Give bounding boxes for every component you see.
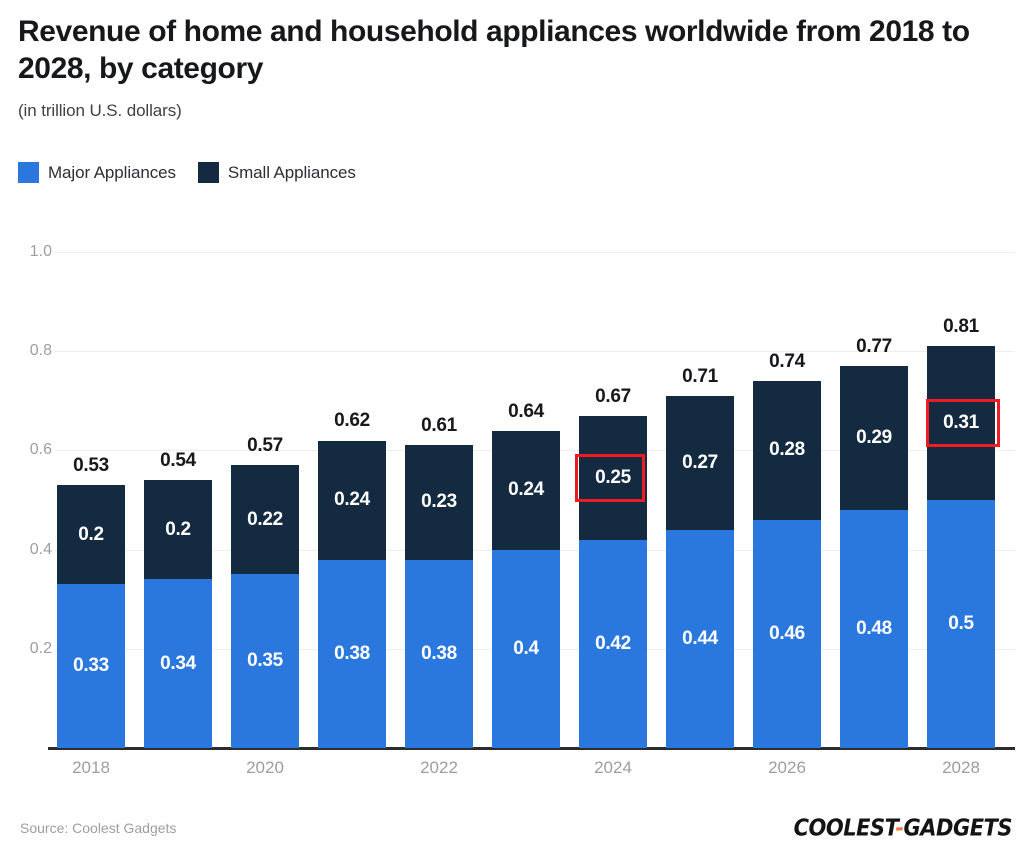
bar-total-label-2026: 0.74 (753, 351, 821, 373)
bar-2025[interactable]: 0.440.27 (666, 396, 734, 748)
gridline (55, 252, 1015, 253)
bar-segment-major-appliances[interactable]: 0.38 (405, 560, 473, 748)
bar-2020[interactable]: 0.350.22 (231, 465, 299, 748)
x-axis-tick-label-2018: 2018 (57, 758, 125, 778)
bar-segment-value-label: 0.38 (421, 643, 457, 665)
bar-segment-major-appliances[interactable]: 0.4 (492, 550, 560, 748)
bar-segment-value-label: 0.48 (856, 618, 892, 640)
bar-segment-value-label: 0.42 (595, 633, 631, 655)
bar-total-label-2019: 0.54 (144, 450, 212, 472)
bar-segment-value-label: 0.23 (421, 491, 457, 513)
bar-segment-value-label: 0.44 (682, 628, 718, 650)
bar-segment-small-appliances[interactable]: 0.22 (231, 465, 299, 574)
bar-total-label-2025: 0.71 (666, 366, 734, 388)
bar-2022[interactable]: 0.380.23 (405, 445, 473, 748)
bar-total-label-2028: 0.81 (927, 316, 995, 338)
y-axis-tick-label: 0.2 (12, 640, 52, 658)
bar-total-label-2027: 0.77 (840, 336, 908, 358)
bar-segment-value-label: 0.38 (334, 643, 370, 665)
bar-segment-small-appliances[interactable]: 0.24 (318, 441, 386, 560)
x-axis-tick-label-2024: 2024 (579, 758, 647, 778)
bar-segment-value-label: 0.24 (508, 479, 544, 501)
bar-segment-value-label: 0.27 (682, 452, 718, 474)
bar-segment-value-label: 0.33 (73, 655, 109, 677)
bar-2023[interactable]: 0.40.24 (492, 431, 560, 748)
source-note: Source: Coolest Gadgets (20, 820, 176, 836)
logo-text-left: COOLEST (794, 815, 896, 841)
chart-plot-area: 0.20.40.60.81.00.330.20.5320180.340.20.5… (0, 0, 1024, 859)
bar-total-label-2023: 0.64 (492, 401, 560, 423)
bar-segment-value-label: 0.28 (769, 439, 805, 461)
bar-segment-small-appliances[interactable]: 0.2 (57, 485, 125, 584)
x-axis-tick-label-2026: 2026 (753, 758, 821, 778)
bar-segment-major-appliances[interactable]: 0.44 (666, 530, 734, 748)
bar-segment-value-label: 0.5 (948, 613, 974, 635)
bar-segment-small-appliances[interactable]: 0.27 (666, 396, 734, 530)
bar-segment-major-appliances[interactable]: 0.38 (318, 560, 386, 748)
bar-segment-value-label: 0.24 (334, 489, 370, 511)
bar-segment-value-label: 0.2 (165, 519, 191, 541)
logo-dash: - (895, 815, 903, 841)
bar-segment-small-appliances[interactable]: 0.31 (927, 346, 995, 500)
bar-segment-value-label: 0.4 (513, 638, 539, 660)
bar-2028[interactable]: 0.50.31 (927, 346, 995, 748)
bar-total-label-2018: 0.53 (57, 455, 125, 477)
bar-segment-value-label: 0.46 (769, 623, 805, 645)
bar-total-label-2021: 0.62 (318, 410, 386, 432)
bar-2026[interactable]: 0.460.28 (753, 381, 821, 748)
x-axis-tick-label-2022: 2022 (405, 758, 473, 778)
y-axis-tick-label: 0.6 (12, 441, 52, 459)
bar-2018[interactable]: 0.330.2 (57, 485, 125, 748)
bar-segment-major-appliances[interactable]: 0.33 (57, 584, 125, 748)
x-axis-tick-label-2020: 2020 (231, 758, 299, 778)
bar-segment-small-appliances[interactable]: 0.2 (144, 480, 212, 579)
bar-segment-major-appliances[interactable]: 0.42 (579, 540, 647, 748)
bar-segment-major-appliances[interactable]: 0.48 (840, 510, 908, 748)
bar-segment-small-appliances[interactable]: 0.24 (492, 431, 560, 550)
bar-segment-major-appliances[interactable]: 0.34 (144, 579, 212, 748)
brand-logo: COOLEST-GADGETS (794, 815, 1012, 841)
x-axis-tick-label-2028: 2028 (927, 758, 995, 778)
bar-segment-value-label: 0.25 (595, 467, 631, 489)
logo-text-right: GADGETS (904, 815, 1012, 841)
bar-segment-major-appliances[interactable]: 0.35 (231, 574, 299, 748)
bar-2027[interactable]: 0.480.29 (840, 366, 908, 748)
bar-segment-value-label: 0.22 (247, 509, 283, 531)
bar-total-label-2024: 0.67 (579, 386, 647, 408)
bar-segment-small-appliances[interactable]: 0.29 (840, 366, 908, 510)
y-axis-tick-label: 0.8 (12, 342, 52, 360)
bar-total-label-2020: 0.57 (231, 435, 299, 457)
bar-2021[interactable]: 0.380.24 (318, 440, 386, 748)
bar-segment-small-appliances[interactable]: 0.25 (579, 416, 647, 540)
bar-segment-major-appliances[interactable]: 0.5 (927, 500, 995, 748)
bar-2024[interactable]: 0.420.25 (579, 416, 647, 748)
bar-total-label-2022: 0.61 (405, 415, 473, 437)
bar-segment-value-label: 0.31 (943, 412, 979, 434)
bar-segment-small-appliances[interactable]: 0.28 (753, 381, 821, 520)
y-axis-tick-label: 1.0 (12, 243, 52, 261)
bar-segment-value-label: 0.35 (247, 650, 283, 672)
bar-2019[interactable]: 0.340.2 (144, 480, 212, 748)
y-axis-tick-label: 0.4 (12, 541, 52, 559)
bar-segment-value-label: 0.34 (160, 653, 196, 675)
bar-segment-value-label: 0.2 (78, 524, 104, 546)
bar-segment-major-appliances[interactable]: 0.46 (753, 520, 821, 748)
bar-segment-small-appliances[interactable]: 0.23 (405, 445, 473, 559)
bar-segment-value-label: 0.29 (856, 427, 892, 449)
